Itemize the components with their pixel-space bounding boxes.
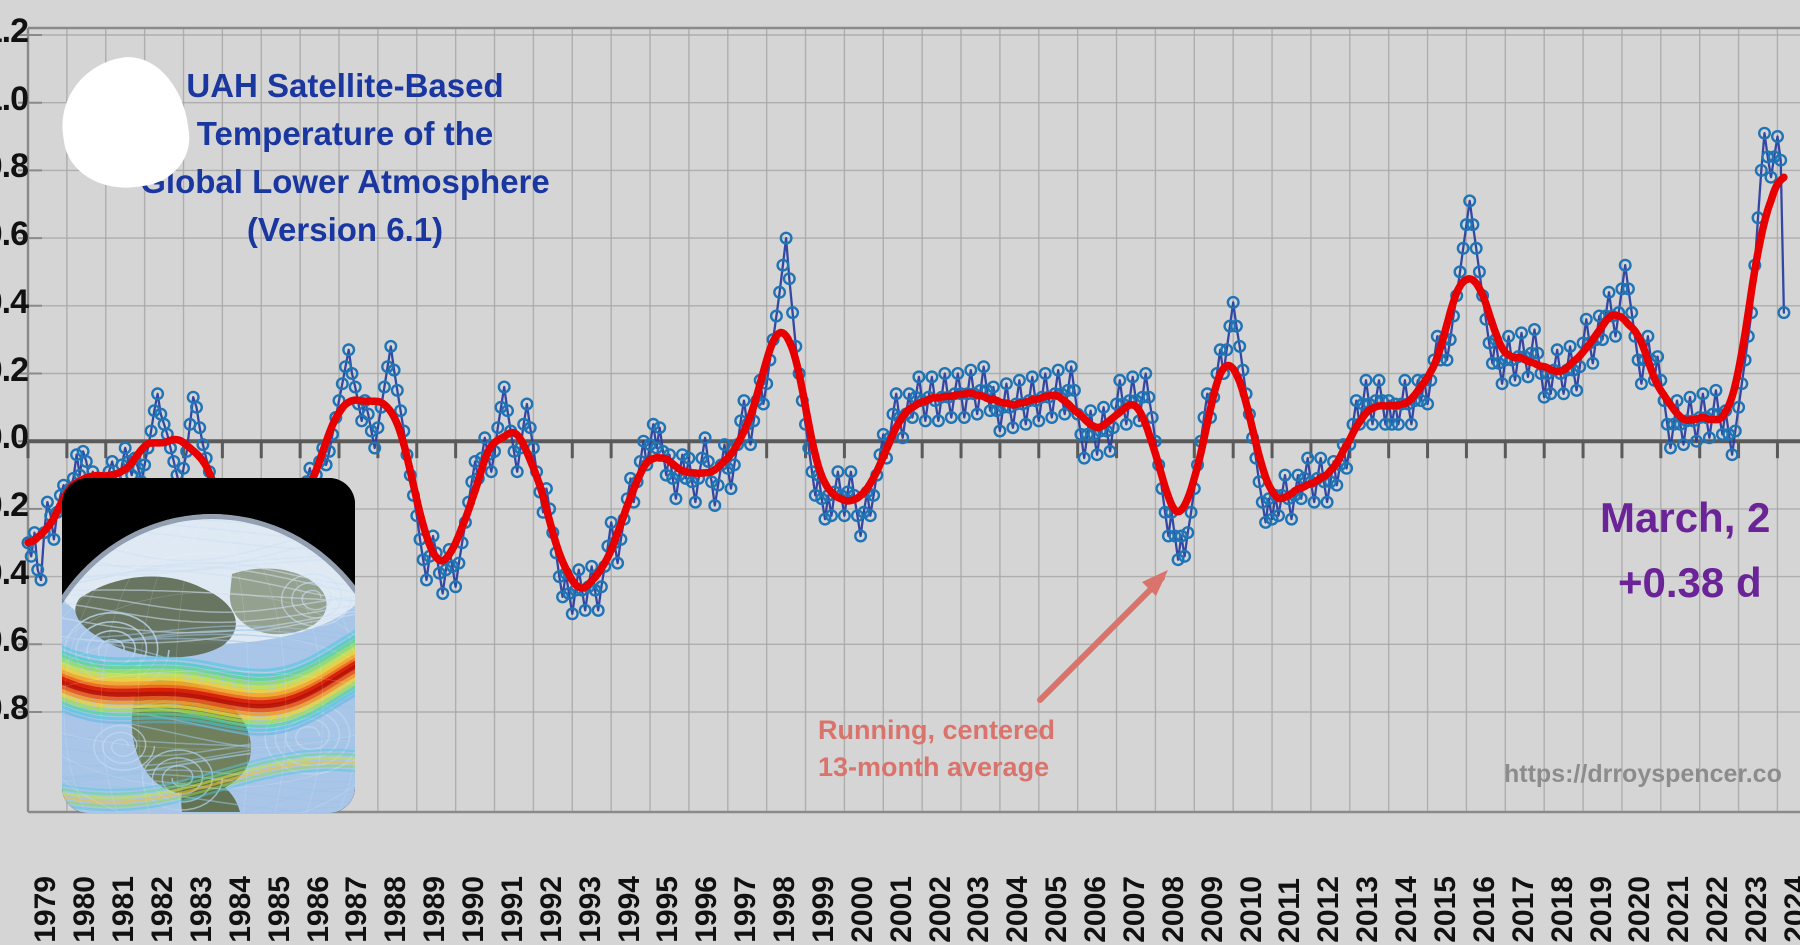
x-axis-tick-label: 2019 xyxy=(1587,876,1617,943)
x-axis-tick-label: 1988 xyxy=(381,876,411,943)
x-axis-tick-label: 2003 xyxy=(964,876,994,943)
y-axis-tick-label: 0.4 xyxy=(0,283,28,322)
x-axis-tick-label: 2012 xyxy=(1314,876,1344,943)
x-axis-tick-label: 2011 xyxy=(1275,878,1305,943)
x-axis-tick-label: 2010 xyxy=(1237,876,1267,943)
globe-image xyxy=(62,478,355,813)
y-axis-tick-label: 1.2 xyxy=(0,12,28,51)
y-axis-tick-label: 1.0 xyxy=(0,80,28,119)
x-axis-tick-label: 2024 xyxy=(1781,876,1800,943)
x-axis-tick-label: 2008 xyxy=(1159,876,1189,943)
running-average-line-1: Running, centered xyxy=(818,712,1055,749)
x-axis-tick-label: 2020 xyxy=(1625,876,1655,943)
x-axis-tick-label: 2022 xyxy=(1703,876,1733,943)
x-axis-tick-label: 1994 xyxy=(615,876,645,943)
x-axis-tick-label: 2017 xyxy=(1509,876,1539,943)
x-axis-tick-label: 1985 xyxy=(265,876,295,943)
x-axis-tick-label: 2016 xyxy=(1470,876,1500,943)
x-axis-tick-label: 1999 xyxy=(809,876,839,943)
x-axis-tick-label: 2013 xyxy=(1353,876,1383,943)
x-axis-tick-label: 1982 xyxy=(148,876,178,943)
x-axis-tick-label: 2014 xyxy=(1392,876,1422,943)
x-axis-tick-label: 1997 xyxy=(731,876,761,943)
x-axis-tick-label: 1992 xyxy=(537,876,567,943)
x-axis-tick-label: 2004 xyxy=(1003,876,1033,943)
x-axis-tick-label: 1993 xyxy=(576,876,606,943)
x-axis-tick-label: 1991 xyxy=(498,876,528,943)
x-axis-tick-label: 1979 xyxy=(31,876,61,943)
x-axis-tick-label: 2005 xyxy=(1042,876,1072,943)
x-axis-tick-label: 1998 xyxy=(770,876,800,943)
y-axis-tick-label: 0.0 xyxy=(0,418,28,457)
x-axis-tick-label: 2023 xyxy=(1742,876,1772,943)
latest-value-annotation: March, 2 +0.38 d xyxy=(1600,485,1770,615)
x-axis-tick-label: 2000 xyxy=(848,876,878,943)
y-axis-tick-label: -0.6 xyxy=(0,621,28,660)
x-axis-tick-label: 1983 xyxy=(187,876,217,943)
y-axis-tick-label: -0.2 xyxy=(0,486,28,525)
y-axis-tick-label: -0.4 xyxy=(0,554,28,593)
y-axis-tick-label: 0.6 xyxy=(0,215,28,254)
x-axis-tick-label: 2015 xyxy=(1431,876,1461,943)
latest-anomaly-value: +0.38 d xyxy=(1600,550,1770,615)
x-axis-tick-label: 2007 xyxy=(1120,876,1150,943)
x-axis-tick-label: 1986 xyxy=(304,876,334,943)
x-axis-tick-label: 2006 xyxy=(1081,876,1111,943)
x-axis-tick-label: 1990 xyxy=(459,876,489,943)
x-axis-tick-label: 1996 xyxy=(692,876,722,943)
y-axis-tick-label: 0.2 xyxy=(0,351,28,390)
y-axis-tick-label: -0.8 xyxy=(0,689,28,728)
x-axis-tick-label: 1989 xyxy=(420,876,450,943)
x-axis-tick-label: 2009 xyxy=(1198,876,1228,943)
x-axis-tick-label: 1984 xyxy=(226,876,256,943)
y-axis-tick-label: 0.8 xyxy=(0,147,28,186)
chart-canvas: 1.21.00.80.60.40.20.0-0.2-0.4-0.6-0.8 19… xyxy=(0,0,1800,945)
running-average-line-2: 13-month average xyxy=(818,749,1055,786)
jet-stream-globe-inset xyxy=(62,478,355,813)
source-url-label: https://drroyspencer.co xyxy=(1504,760,1782,789)
x-axis-tick-label: 1995 xyxy=(653,876,683,943)
x-axis-tick-label: 2001 xyxy=(887,876,917,943)
x-axis-tick-label: 1981 xyxy=(109,876,139,943)
x-axis-tick-label: 2002 xyxy=(926,876,956,943)
latest-month-label: March, 2 xyxy=(1600,485,1770,550)
x-axis-tick-label: 1987 xyxy=(342,876,372,943)
running-average-annotation: Running, centered 13-month average xyxy=(818,712,1055,787)
x-axis-tick-label: 1980 xyxy=(70,876,100,943)
x-axis-tick-label: 2021 xyxy=(1664,876,1694,943)
x-axis-tick-label: 2018 xyxy=(1548,876,1578,943)
